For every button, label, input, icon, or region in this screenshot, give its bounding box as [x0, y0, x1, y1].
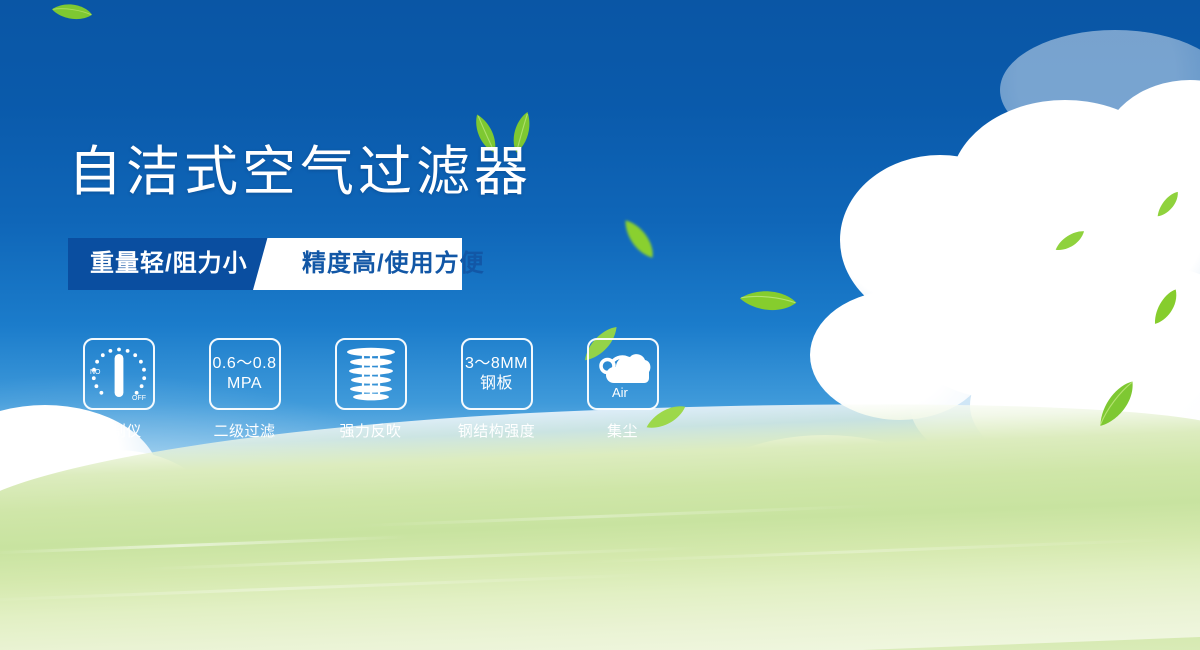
pressure-text-icon: 0.6～0.8 MPA: [213, 354, 277, 394]
feature-item-steel-strength[interactable]: 3～8MM 钢板 钢结构强度: [459, 338, 534, 441]
feature-item-controller[interactable]: NO OFF 控制仪: [81, 338, 156, 441]
leaf-icon-center: [621, 214, 656, 265]
cloud-air-icon: Air: [592, 343, 654, 405]
subtitle-left-text: 重量轻/阻力小: [90, 238, 248, 290]
feature-label-two-stage: 二级过滤: [213, 420, 275, 441]
feature-label-controller: 控制仪: [95, 420, 142, 441]
subtitle-right-text: 精度高/使用方便: [302, 238, 485, 290]
page-title: 自洁式空气过滤器: [68, 143, 532, 201]
coil-stack-icon: [343, 345, 399, 403]
dial-off-mark: OFF: [132, 395, 146, 402]
hero-banner: 自洁式空气过滤器 重量轻/阻力小 精度高/使用方便: [0, 0, 1200, 650]
steel-icon-box[interactable]: 3～8MM 钢板: [461, 338, 533, 410]
controller-icon-box[interactable]: NO OFF: [83, 338, 155, 410]
feature-list: NO OFF 控制仪 0.6～0.8 MPA 二级过滤: [81, 338, 660, 441]
feature-spacer: [282, 338, 333, 441]
feature-label-dust-collect: 集尘: [607, 420, 638, 441]
feature-item-dust-collect[interactable]: Air 集尘: [585, 338, 660, 441]
feature-item-backblow[interactable]: 强力反吹: [333, 338, 408, 441]
feature-item-two-stage[interactable]: 0.6～0.8 MPA 二级过滤: [207, 338, 282, 441]
air-label: Air: [612, 385, 629, 400]
feature-spacer: [156, 338, 207, 441]
feature-spacer: [408, 338, 459, 441]
backblow-icon-box[interactable]: [335, 338, 407, 410]
leaf-icon-top-left: [50, 0, 95, 30]
pressure-icon-box[interactable]: 0.6～0.8 MPA: [209, 338, 281, 410]
steel-text-icon: 3～8MM 钢板: [465, 354, 528, 394]
dust-icon-box[interactable]: Air: [587, 338, 659, 410]
leaf-icon-mid-right: [737, 278, 799, 323]
feature-spacer: [534, 338, 585, 441]
dial-gauge-icon: NO OFF: [86, 341, 152, 407]
subtitle-banner: 重量轻/阻力小 精度高/使用方便: [68, 238, 462, 290]
feature-label-backblow: 强力反吹: [339, 420, 401, 441]
dial-no-mark: NO: [90, 369, 101, 376]
feature-label-steel-strength: 钢结构强度: [458, 420, 536, 441]
